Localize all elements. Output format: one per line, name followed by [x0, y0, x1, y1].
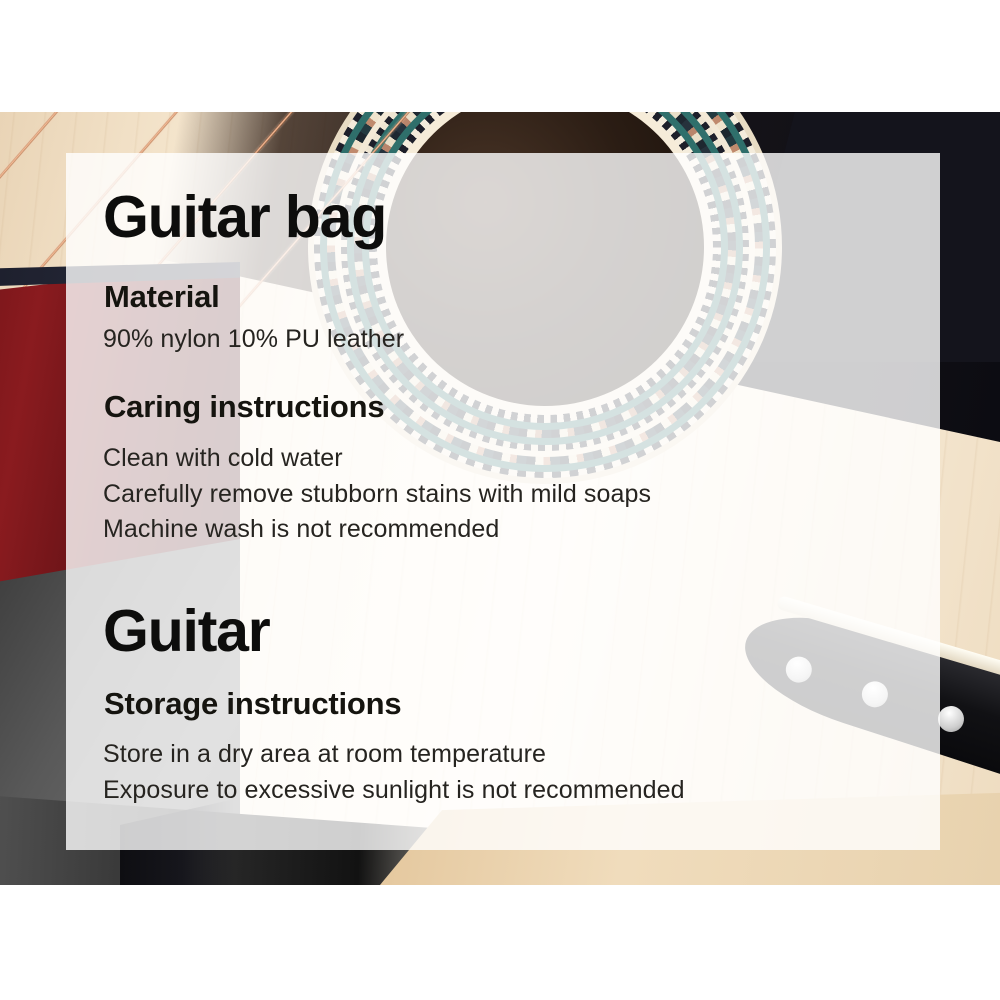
heading-caring-instructions: Caring instructions	[104, 389, 384, 425]
heading-storage-instructions: Storage instructions	[104, 686, 401, 722]
heading-material: Material	[104, 279, 220, 315]
storage-line-1: Store in a dry area at room temperature	[103, 740, 546, 769]
material-line: 90% nylon 10% PU leather	[103, 325, 404, 354]
section-title-guitar-bag: Guitar bag	[103, 188, 386, 247]
caring-line-2: Carefully remove stubborn stains with mi…	[103, 480, 651, 509]
section-title-guitar: Guitar	[103, 602, 270, 661]
poster-canvas: Guitar bag Material 90% nylon 10% PU lea…	[0, 0, 1000, 1000]
storage-line-2: Exposure to excessive sunlight is not re…	[103, 776, 685, 805]
caring-line-1: Clean with cold water	[103, 444, 343, 473]
caring-line-3: Machine wash is not recommended	[103, 515, 499, 544]
